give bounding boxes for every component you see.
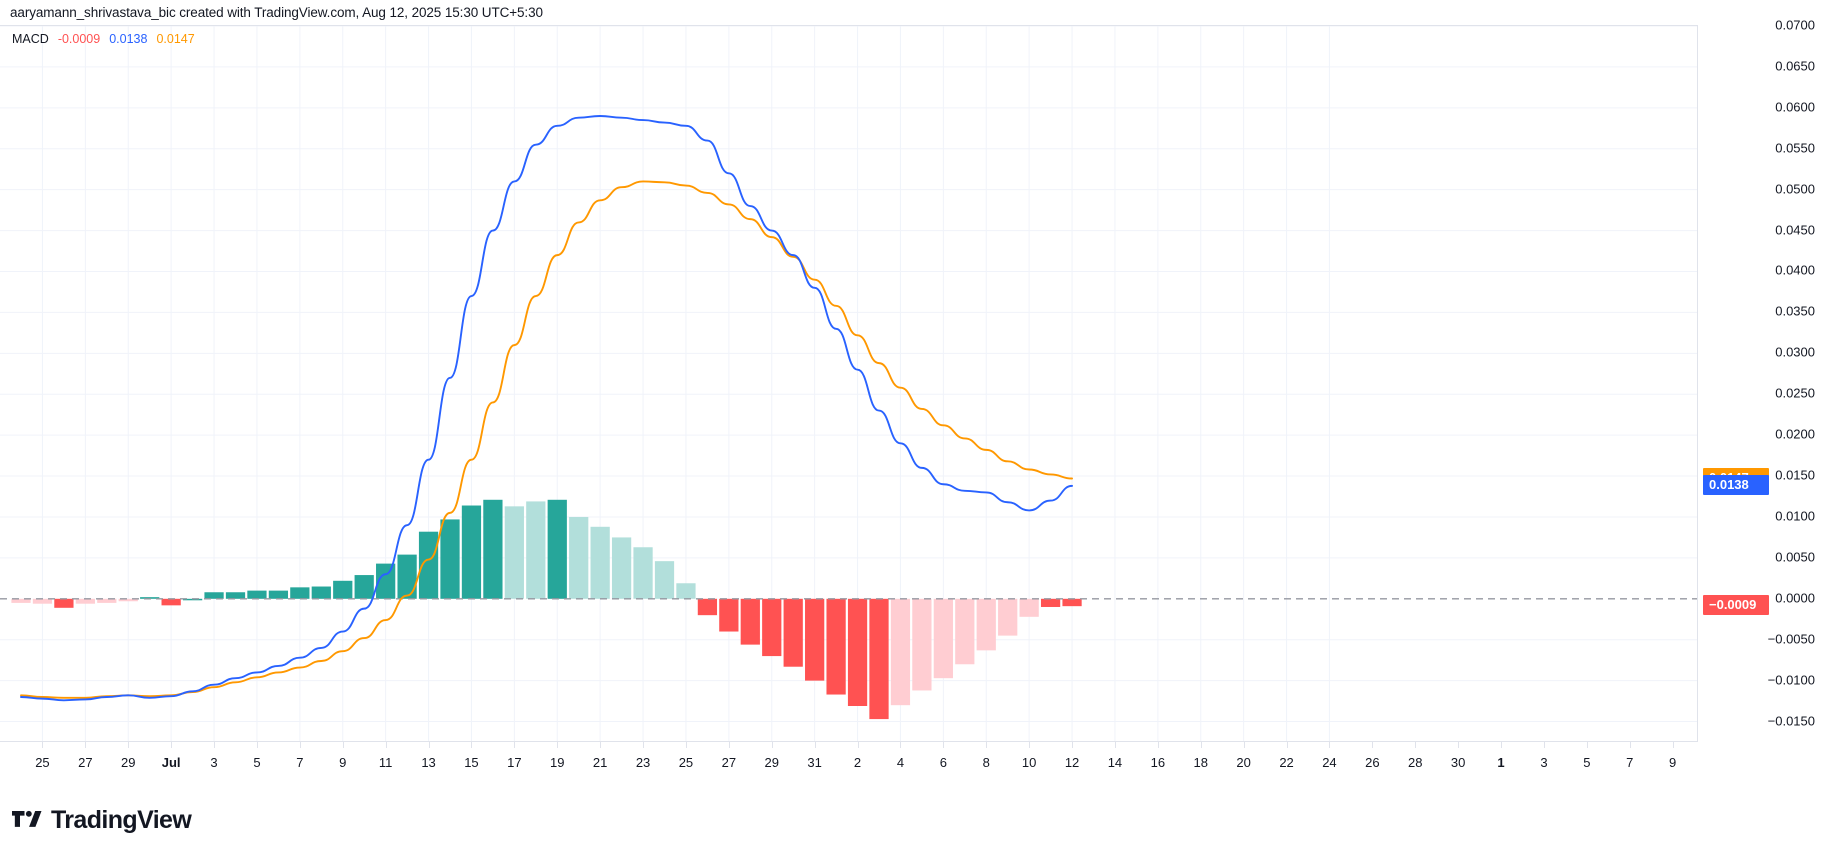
time-axis-tick: 13 [421, 755, 435, 770]
time-tick-mark [1458, 742, 1459, 748]
histogram-bar [655, 561, 674, 599]
time-tick-mark [1415, 742, 1416, 748]
legend-title: MACD [12, 32, 49, 46]
histogram-bar [226, 592, 245, 599]
histogram-bar [355, 575, 374, 599]
time-axis-tick: 4 [897, 755, 904, 770]
histogram-bar [462, 506, 481, 599]
time-tick-mark [729, 742, 730, 748]
histogram-bar [397, 555, 416, 599]
time-axis-tick: 21 [593, 755, 607, 770]
time-axis-tick: 25 [35, 755, 49, 770]
time-axis-tick: 12 [1065, 755, 1079, 770]
time-axis-tick: 22 [1279, 755, 1293, 770]
time-tick-mark [1630, 742, 1631, 748]
time-axis-tick: Jul [162, 755, 181, 770]
time-tick-mark [686, 742, 687, 748]
time-tick-mark [128, 742, 129, 748]
histogram-bar [805, 599, 824, 681]
price-axis-tick: 0.0050 [1775, 549, 1815, 564]
price-axis-tick: 0.0650 [1775, 58, 1815, 73]
time-tick-mark [343, 742, 344, 748]
histogram-bar [569, 517, 588, 599]
histogram-bar [33, 599, 52, 604]
tradingview-macd-chart: aaryamann_shrivastava_bic created with T… [0, 0, 1825, 849]
time-tick-mark [471, 742, 472, 748]
time-axis-tick: 5 [1583, 755, 1590, 770]
histogram-bar [698, 599, 717, 615]
time-tick-mark [514, 742, 515, 748]
price-axis-tick: 0.0300 [1775, 345, 1815, 360]
price-axis-tick: 0.0450 [1775, 222, 1815, 237]
histogram-bar [891, 599, 910, 705]
legend-macd-value: 0.0138 [109, 32, 147, 46]
time-tick-mark [943, 742, 944, 748]
price-axis-tick: 0.0100 [1775, 508, 1815, 523]
histogram-bar [612, 537, 631, 598]
time-axis-tick: 9 [339, 755, 346, 770]
price-axis-tick: −0.0150 [1768, 713, 1815, 728]
chart-svg [0, 26, 1697, 741]
histogram-bar [54, 599, 73, 608]
time-axis-tick: 11 [379, 755, 393, 770]
time-axis[interactable]: 252729Jul3579111315171921232527293124681… [0, 741, 1698, 777]
time-axis-tick: 29 [765, 755, 779, 770]
histogram-bar [762, 599, 781, 656]
histogram-bar [204, 592, 223, 599]
time-tick-mark [42, 742, 43, 748]
time-axis-tick: 7 [1626, 755, 1633, 770]
histogram-bar [312, 587, 331, 599]
histogram-bar [505, 506, 524, 598]
histogram-bar [912, 599, 931, 691]
time-axis-tick: 26 [1365, 755, 1379, 770]
time-tick-mark [85, 742, 86, 748]
histogram-bar [1062, 599, 1081, 606]
time-tick-mark [1072, 742, 1073, 748]
histogram-bar [269, 591, 288, 599]
time-tick-mark [1158, 742, 1159, 748]
legend-signal-value: 0.0147 [156, 32, 194, 46]
time-axis-tick: 25 [679, 755, 693, 770]
histogram-bar [977, 599, 996, 651]
histogram-bar [848, 599, 867, 706]
indicator-legend[interactable]: MACD -0.0009 0.0138 0.0147 [12, 32, 195, 46]
time-tick-mark [858, 742, 859, 748]
time-tick-mark [1544, 742, 1545, 748]
histogram-bar [333, 581, 352, 599]
histogram-bar [483, 500, 502, 599]
time-axis-tick: 27 [78, 755, 92, 770]
histogram-bar [1041, 599, 1060, 607]
time-tick-mark [815, 742, 816, 748]
price-axis-tick: 0.0200 [1775, 427, 1815, 442]
histogram-bar [526, 501, 545, 598]
price-axis-tick: 0.0550 [1775, 140, 1815, 155]
attribution-text: aaryamann_shrivastava_bic created with T… [10, 5, 543, 20]
time-tick-mark [1673, 742, 1674, 748]
time-axis-tick: 30 [1451, 755, 1465, 770]
histogram-bar [591, 527, 610, 599]
price-axis-tick: −0.0050 [1768, 631, 1815, 646]
price-axis-tick: 0.0000 [1775, 590, 1815, 605]
time-axis-tick: 6 [940, 755, 947, 770]
time-tick-mark [900, 742, 901, 748]
time-tick-mark [643, 742, 644, 748]
price-axis-tick: −0.0100 [1768, 672, 1815, 687]
time-tick-mark [986, 742, 987, 748]
price-axis[interactable]: 0.07000.06500.06000.05500.05000.04500.04… [1699, 25, 1825, 741]
time-axis-tick: 1 [1497, 755, 1504, 770]
legend-histogram-value: -0.0009 [58, 32, 100, 46]
histogram-bar [290, 587, 309, 598]
histogram-bar [162, 599, 181, 606]
chart-plot-area[interactable] [0, 26, 1697, 741]
time-tick-mark [557, 742, 558, 748]
time-axis-tick: 15 [464, 755, 478, 770]
time-tick-mark [1587, 742, 1588, 748]
histogram-bar [784, 599, 803, 667]
time-axis-tick: 18 [1194, 755, 1208, 770]
histogram-bar [741, 599, 760, 645]
price-axis-tick: 0.0350 [1775, 304, 1815, 319]
time-tick-mark [257, 742, 258, 748]
time-tick-mark [772, 742, 773, 748]
histogram-bar [719, 599, 738, 632]
time-axis-tick: 31 [807, 755, 821, 770]
histogram-bar [998, 599, 1017, 636]
time-axis-tick: 16 [1151, 755, 1165, 770]
price-axis-tick: 0.0700 [1775, 18, 1815, 33]
price-badge[interactable]: −0.0009 [1703, 595, 1769, 615]
histogram-bar [869, 599, 888, 719]
time-tick-mark [1201, 742, 1202, 748]
time-tick-mark [1029, 742, 1030, 748]
price-axis-tick: 0.0500 [1775, 181, 1815, 196]
tradingview-wordmark: TradingView [51, 806, 191, 835]
histogram-bar [676, 583, 695, 599]
time-axis-tick: 14 [1108, 755, 1122, 770]
time-axis-tick: 3 [210, 755, 217, 770]
time-axis-tick: 3 [1540, 755, 1547, 770]
time-tick-mark [600, 742, 601, 748]
time-axis-tick: 20 [1236, 755, 1250, 770]
time-axis-tick: 10 [1022, 755, 1036, 770]
time-tick-mark [1244, 742, 1245, 748]
time-tick-mark [1329, 742, 1330, 748]
time-tick-mark [429, 742, 430, 748]
price-badge[interactable]: 0.0138 [1703, 475, 1769, 495]
time-axis-tick: 9 [1669, 755, 1676, 770]
price-axis-tick: 0.0250 [1775, 386, 1815, 401]
time-axis-tick: 8 [983, 755, 990, 770]
price-axis-tick: 0.0600 [1775, 99, 1815, 114]
histogram-bar [633, 547, 652, 599]
price-axis-tick: 0.0400 [1775, 263, 1815, 278]
histogram-bar [1020, 599, 1039, 617]
time-axis-tick: 24 [1322, 755, 1336, 770]
time-tick-mark [1115, 742, 1116, 748]
time-tick-mark [1287, 742, 1288, 748]
tradingview-mark-icon [12, 810, 42, 832]
tradingview-logo: TradingView [12, 806, 191, 835]
histogram-bar [934, 599, 953, 678]
histogram-bar [440, 519, 459, 598]
histogram-bar [955, 599, 974, 664]
time-tick-mark [1501, 742, 1502, 748]
time-axis-tick: 17 [507, 755, 521, 770]
histogram-bar [247, 591, 266, 599]
time-tick-mark [214, 742, 215, 748]
time-axis-tick: 23 [636, 755, 650, 770]
time-axis-tick: 19 [550, 755, 564, 770]
time-axis-tick: 2 [854, 755, 861, 770]
histogram-bar [826, 599, 845, 695]
histogram-bar [76, 599, 95, 604]
time-axis-tick: 5 [253, 755, 260, 770]
time-axis-tick: 29 [121, 755, 135, 770]
time-axis-tick: 28 [1408, 755, 1422, 770]
time-tick-mark [300, 742, 301, 748]
histogram-bar [548, 500, 567, 599]
chart-frame: MACD -0.0009 0.0138 0.0147 [0, 25, 1698, 741]
time-tick-mark [386, 742, 387, 748]
time-tick-mark [1372, 742, 1373, 748]
time-axis-tick: 27 [722, 755, 736, 770]
footer: TradingView [0, 792, 1825, 849]
price-axis-tick: 0.0150 [1775, 468, 1815, 483]
time-tick-mark [171, 742, 172, 748]
time-axis-tick: 7 [296, 755, 303, 770]
